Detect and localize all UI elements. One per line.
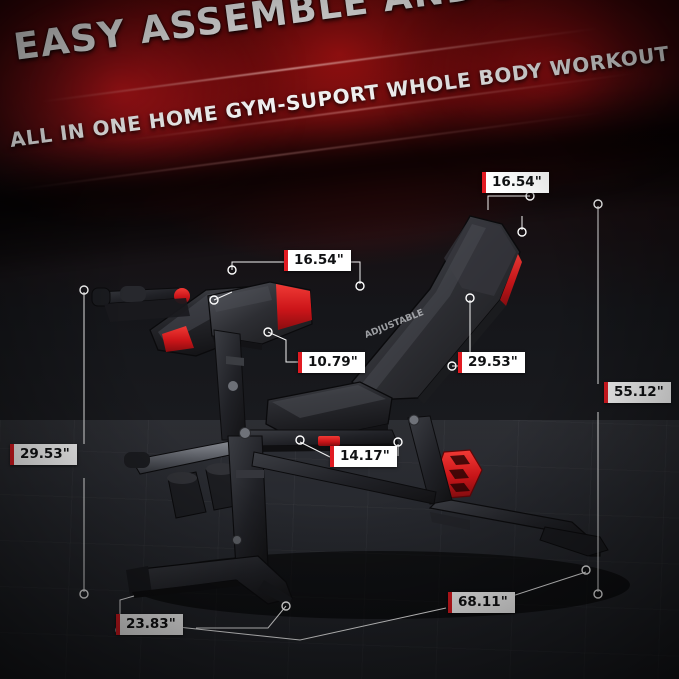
dim-seat-pad-width: 16.54" [284,250,351,271]
product-dimension-infographic: EASY ASSEMBLE AND STORAGE ALL IN ONE HOM… [0,0,679,679]
dim-base-width: 23.83" [116,614,183,635]
dim-backrest-length: 29.53" [458,352,525,373]
rear-base-rail [430,498,608,556]
dim-leg-developer-width: 10.79" [298,352,365,373]
preacher-support-column [214,330,246,440]
dim-preacher-height: 29.53" [10,444,77,465]
dim-overall-height: 55.12" [604,382,671,403]
backrest-pad [352,216,522,404]
dim-overall-length: 68.11" [448,592,515,613]
arm-handle-bars [92,286,190,322]
dim-seat-length: 14.17" [330,446,397,467]
weight-bench-illustration: ADJUSTABLE [0,0,679,679]
dim-backrest-width: 16.54" [482,172,549,193]
